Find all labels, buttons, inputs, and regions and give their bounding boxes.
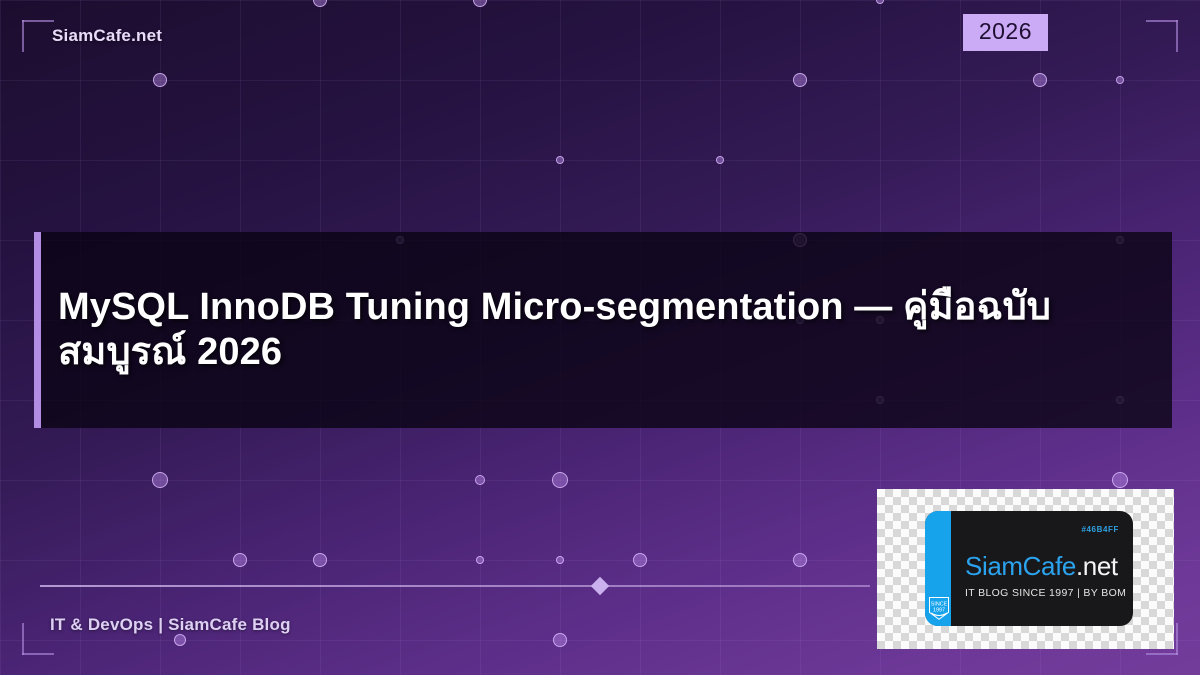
background-dot	[152, 472, 168, 488]
background-dot	[633, 553, 647, 567]
since-badge-line1: SINCE	[931, 602, 948, 608]
logo-tagline: IT BLOG SINCE 1997 | BY BOM	[965, 587, 1126, 599]
background-dot	[876, 0, 884, 4]
since-1997-shield-icon: SINCE 1997	[927, 596, 951, 622]
background-dot	[1116, 76, 1124, 84]
diamond-marker-icon	[591, 577, 609, 595]
background-dot	[473, 0, 487, 7]
background-dot	[556, 556, 564, 564]
background-dot	[153, 73, 167, 87]
background-dot	[553, 633, 567, 647]
background-dot	[1112, 472, 1128, 488]
background-dot	[793, 553, 807, 567]
logo-wordmark-secondary: .net	[1076, 551, 1118, 581]
background-dot	[475, 475, 485, 485]
title-band: MySQL InnoDB Tuning Micro-segmentation —…	[34, 232, 1172, 428]
page-title: MySQL InnoDB Tuning Micro-segmentation —…	[34, 285, 1172, 375]
thumbnail-canvas: SiamCafe.net 2026 MySQL InnoDB Tuning Mi…	[0, 0, 1200, 675]
background-dot	[556, 156, 564, 164]
year-badge: 2026	[963, 14, 1048, 51]
site-brand-label: SiamCafe.net	[52, 26, 162, 46]
background-dot	[716, 156, 724, 164]
background-dot	[174, 634, 186, 646]
footer-caption: IT & DevOps | SiamCafe Blog	[50, 615, 291, 635]
title-accent-bar	[34, 232, 41, 428]
corner-bracket-top-right	[1146, 20, 1178, 52]
background-dot	[552, 472, 568, 488]
logo-wordmark: SiamCafe.net	[965, 551, 1118, 582]
background-dot	[793, 73, 807, 87]
background-dot	[1033, 73, 1047, 87]
logo-wordmark-primary: SiamCafe	[965, 551, 1076, 581]
background-dot	[313, 0, 327, 7]
background-dot	[233, 553, 247, 567]
background-dot	[476, 556, 484, 564]
background-dot	[313, 553, 327, 567]
footer-divider	[40, 585, 870, 587]
hex-color-label: #46B4FF	[1081, 525, 1119, 534]
logo-badge: SINCE 1997 #46B4FF SiamCafe.net IT BLOG …	[925, 511, 1133, 626]
logo-card: SINCE 1997 #46B4FF SiamCafe.net IT BLOG …	[877, 489, 1174, 649]
corner-bracket-top-left	[22, 20, 54, 52]
since-badge-line2: 1997	[933, 608, 945, 614]
